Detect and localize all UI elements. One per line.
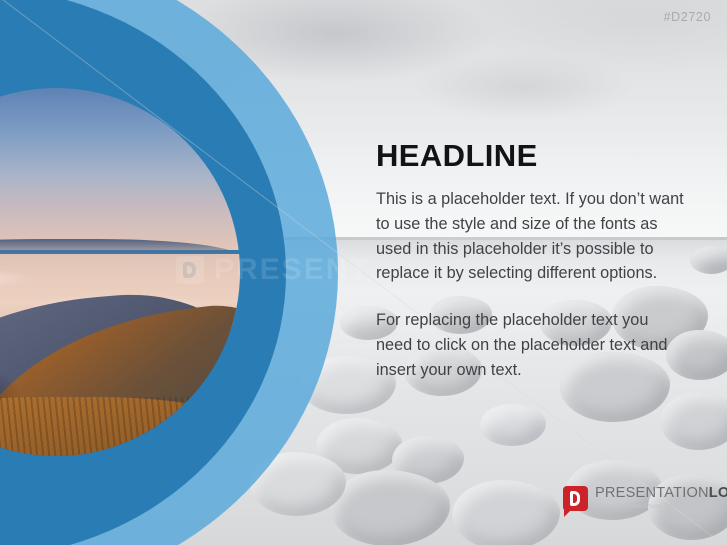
logo-tagline: Premium PowerPoint Templates <box>595 504 727 511</box>
presentationload-logo: PRESENTATIONLOAD® Premium PowerPoint Tem… <box>563 486 727 511</box>
slide-canvas: PRESENT #D2720 HEADLINE This is a placeh… <box>0 0 727 545</box>
speech-bubble-p-icon <box>563 486 588 511</box>
rock <box>330 470 450 545</box>
photo-grass-slope <box>0 397 240 456</box>
placeholder-paragraph-1[interactable]: This is a placeholder text. If you don’t… <box>376 187 686 286</box>
rock <box>660 392 727 450</box>
circular-mountain-photo <box>0 88 240 456</box>
page-title: HEADLINE <box>376 140 686 171</box>
logo-name-light: PRESENTATION <box>595 486 709 501</box>
placeholder-paragraph-2[interactable]: For replacing the placeholder text you n… <box>376 308 686 382</box>
text-content-block: HEADLINE This is a placeholder text. If … <box>376 140 686 382</box>
logo-name-row: PRESENTATIONLOAD® <box>595 486 727 501</box>
rock <box>452 480 560 545</box>
rock <box>690 246 727 274</box>
logo-name-bold: LOAD <box>709 486 727 501</box>
photo-sky <box>0 88 240 250</box>
logo-wordmark: PRESENTATIONLOAD® Premium PowerPoint Tem… <box>595 486 727 510</box>
slide-code: #D2720 <box>664 10 711 24</box>
